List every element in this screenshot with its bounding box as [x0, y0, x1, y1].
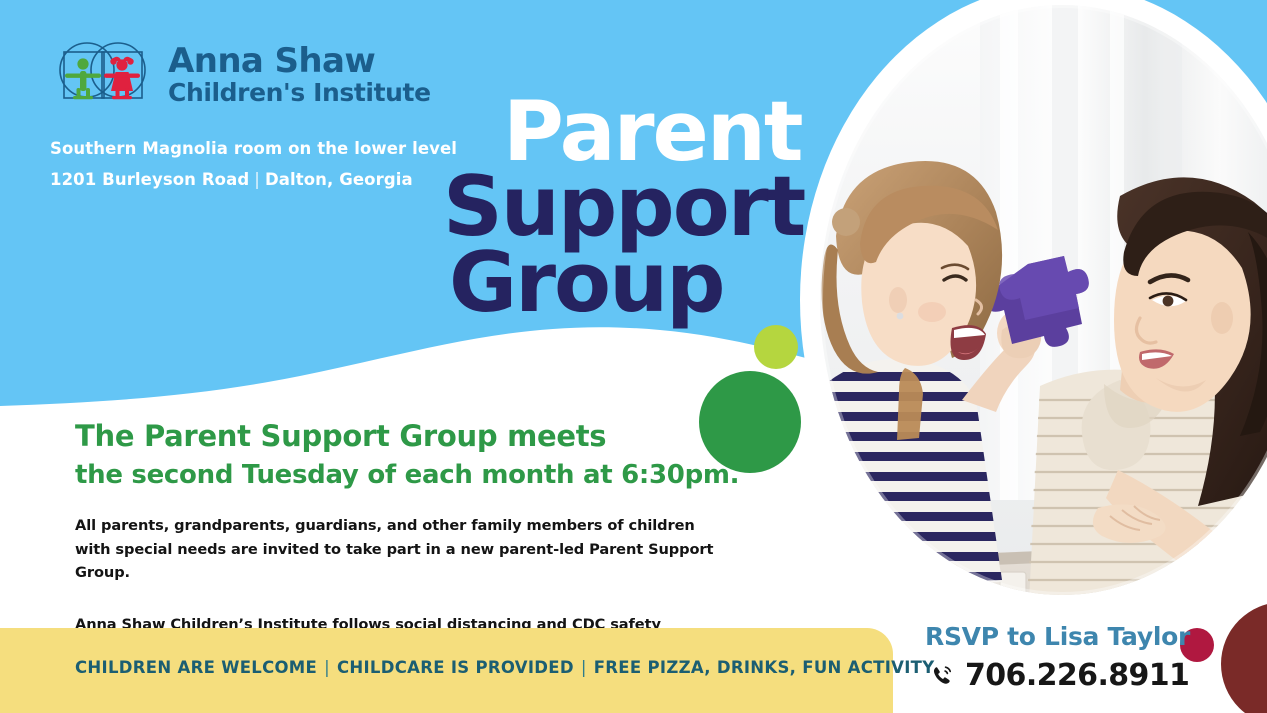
rsvp-phone-number: 706.226.8911 [965, 658, 1189, 693]
footer-separator-1: | [317, 658, 337, 677]
headline-line-2: Support [443, 171, 804, 242]
body-paragraph-1: All parents, grandparents, guardians, an… [75, 514, 735, 585]
lime-circle-decoration [754, 325, 798, 369]
footer-item-1: CHILDREN ARE WELCOME [75, 658, 317, 677]
two-children-circles-logo-icon [50, 40, 158, 112]
venue-street-city: 1201 Burleyson Road|Dalton, Georgia [50, 165, 470, 196]
venue-room: Southern Magnolia room on the lower leve… [50, 134, 470, 165]
headline-line-3: Group [449, 247, 804, 318]
page-title: Parent Support Group [443, 96, 804, 318]
logo-block: Anna Shaw Children's Institute Southern … [50, 40, 470, 195]
maroon-circle-decoration [1221, 602, 1267, 713]
venue-city-state: Dalton, Georgia [265, 170, 413, 189]
footer-item-3: FREE PIZZA, DRINKS, FUN ACTIVITY [594, 658, 935, 677]
footer-separator-2: | [574, 658, 594, 677]
organization-name-line2: Children's Institute [168, 79, 431, 107]
meeting-line-1: The Parent Support Group meets [75, 419, 739, 455]
rsvp-block: RSVP to Lisa Taylor 706.226.8911 [925, 622, 1190, 693]
organization-name-line1: Anna Shaw [168, 44, 431, 79]
phone-handset-icon [930, 663, 956, 689]
meeting-line-2: the second Tuesday of each month at 6:30… [75, 459, 739, 491]
flyer-canvas: Anna Shaw Children's Institute Southern … [0, 0, 1267, 713]
rsvp-label: RSVP to Lisa Taylor [925, 622, 1190, 651]
venue-separator: | [249, 170, 265, 189]
venue-street: 1201 Burleyson Road [50, 170, 249, 189]
meeting-heading: The Parent Support Group meets the secon… [75, 419, 739, 491]
headline-line-1: Parent [503, 96, 804, 167]
footer-banner-text: CHILDREN ARE WELCOME|CHILDCARE IS PROVID… [75, 658, 934, 677]
footer-item-2: CHILDCARE IS PROVIDED [337, 658, 574, 677]
venue-address: Southern Magnolia room on the lower leve… [50, 134, 470, 195]
